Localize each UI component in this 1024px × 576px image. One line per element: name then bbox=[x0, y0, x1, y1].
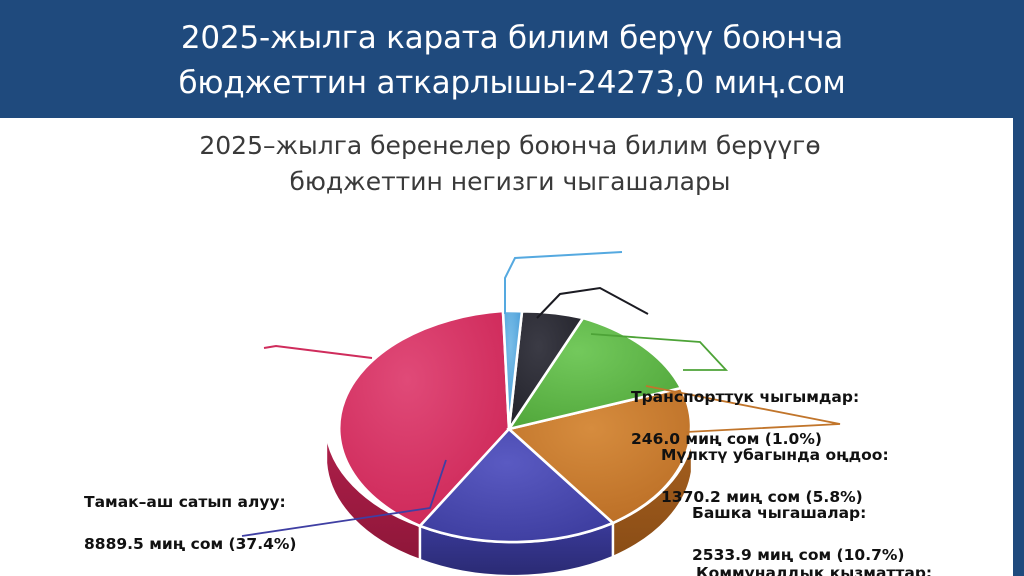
callout-repair-line1: Мүлктү убагында оңдоо: bbox=[661, 445, 889, 466]
callout-food-line2: 8889.5 миң сом (37.4%) bbox=[84, 534, 297, 555]
chart-title: 2025–жылга беренелер боюнча билим берүүг… bbox=[90, 128, 930, 200]
callout-label-utility: Коммуналдык кызматтар: 4827.8 миң сом (2… bbox=[696, 542, 932, 576]
slide-title: 2025-жылга карата билим берүү боюнча бюд… bbox=[0, 16, 1024, 106]
callout-utility-line1: Коммуналдык кызматтар: bbox=[696, 563, 932, 576]
callout-other-line1: Башка чыгашалар: bbox=[692, 503, 905, 524]
slide-root: 2025-жылга карата билим берүү боюнча бюд… bbox=[0, 0, 1024, 576]
title-banner: 2025-жылга карата билим берүү боюнча бюд… bbox=[0, 0, 1024, 118]
callout-transport-line1: Транспорттук чыгымдар: bbox=[631, 387, 859, 408]
chart-area: 2025–жылга беренелер боюнча билим берүүг… bbox=[0, 118, 1013, 576]
callout-label-food: Тамак–аш сатып алуу: 8889.5 миң сом (37.… bbox=[84, 471, 297, 576]
right-accent-bar bbox=[1013, 118, 1024, 576]
callout-food-line1: Тамак–аш сатып алуу: bbox=[84, 492, 297, 513]
